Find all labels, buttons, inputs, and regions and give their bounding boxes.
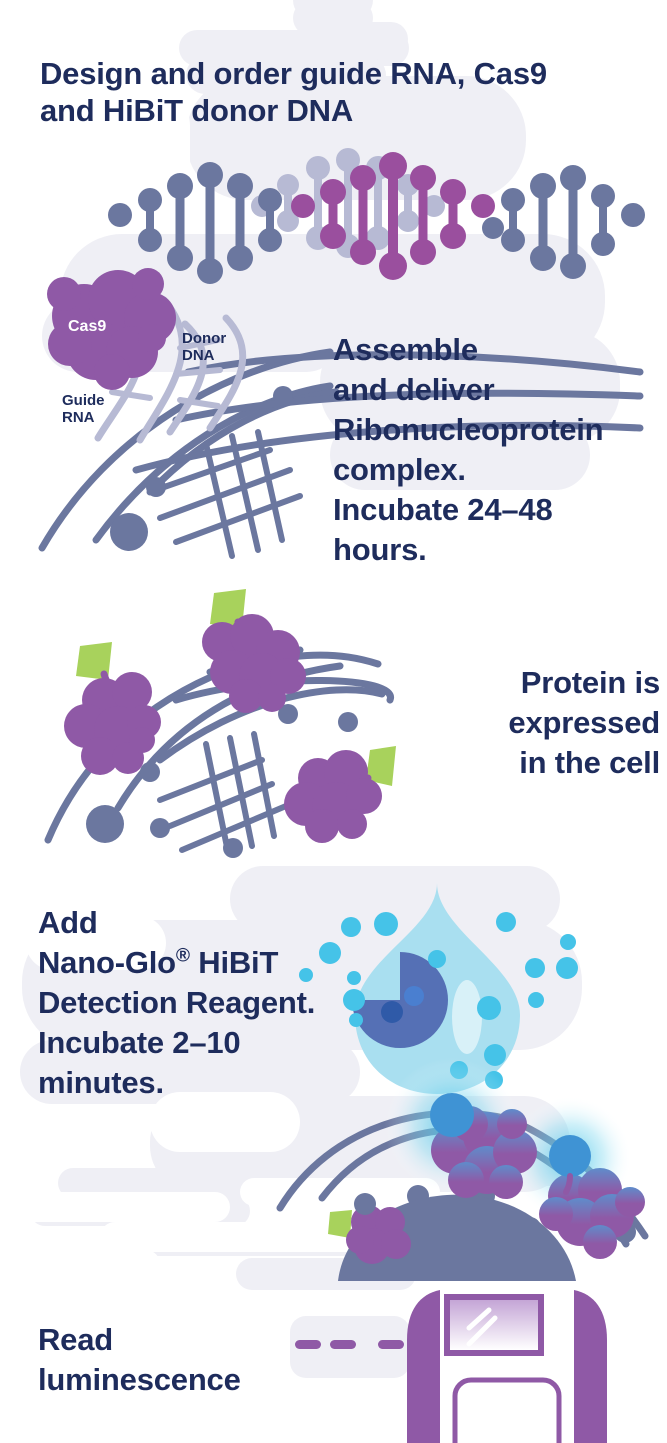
- step-5-title: Read luminescence: [38, 1320, 338, 1400]
- luminometer-screen: [444, 1294, 544, 1356]
- step-4-title: AddNano-Glo® HiBiTDetection Reagent.Incu…: [38, 903, 378, 1103]
- infographic-page: Design and order guide RNA, Cas9 and HiB…: [0, 0, 667, 1443]
- brand-name: Nano-Glo: [38, 945, 176, 980]
- step-4-line-3: Detection Reagent.: [38, 985, 315, 1020]
- step-4-line-1: Add: [38, 905, 98, 940]
- step-3-title: Protein is expressed in the cell: [380, 663, 660, 783]
- donor-dna-label: Donor DNA: [182, 330, 226, 364]
- step-4-line-5: minutes.: [38, 1065, 164, 1100]
- step-4-line-4: Incubate 2–10: [38, 1025, 240, 1060]
- step-1-title: Design and order guide RNA, Cas9 and HiB…: [40, 55, 547, 129]
- step-4-line-2-rest: HiBiT: [190, 945, 278, 980]
- registered-mark: ®: [176, 946, 190, 967]
- guide-rna-label: Guide RNA: [62, 392, 105, 426]
- cas9-label: Cas9: [68, 318, 106, 335]
- step-2-title: Assemble and deliver Ribonucleoprotein c…: [333, 330, 663, 570]
